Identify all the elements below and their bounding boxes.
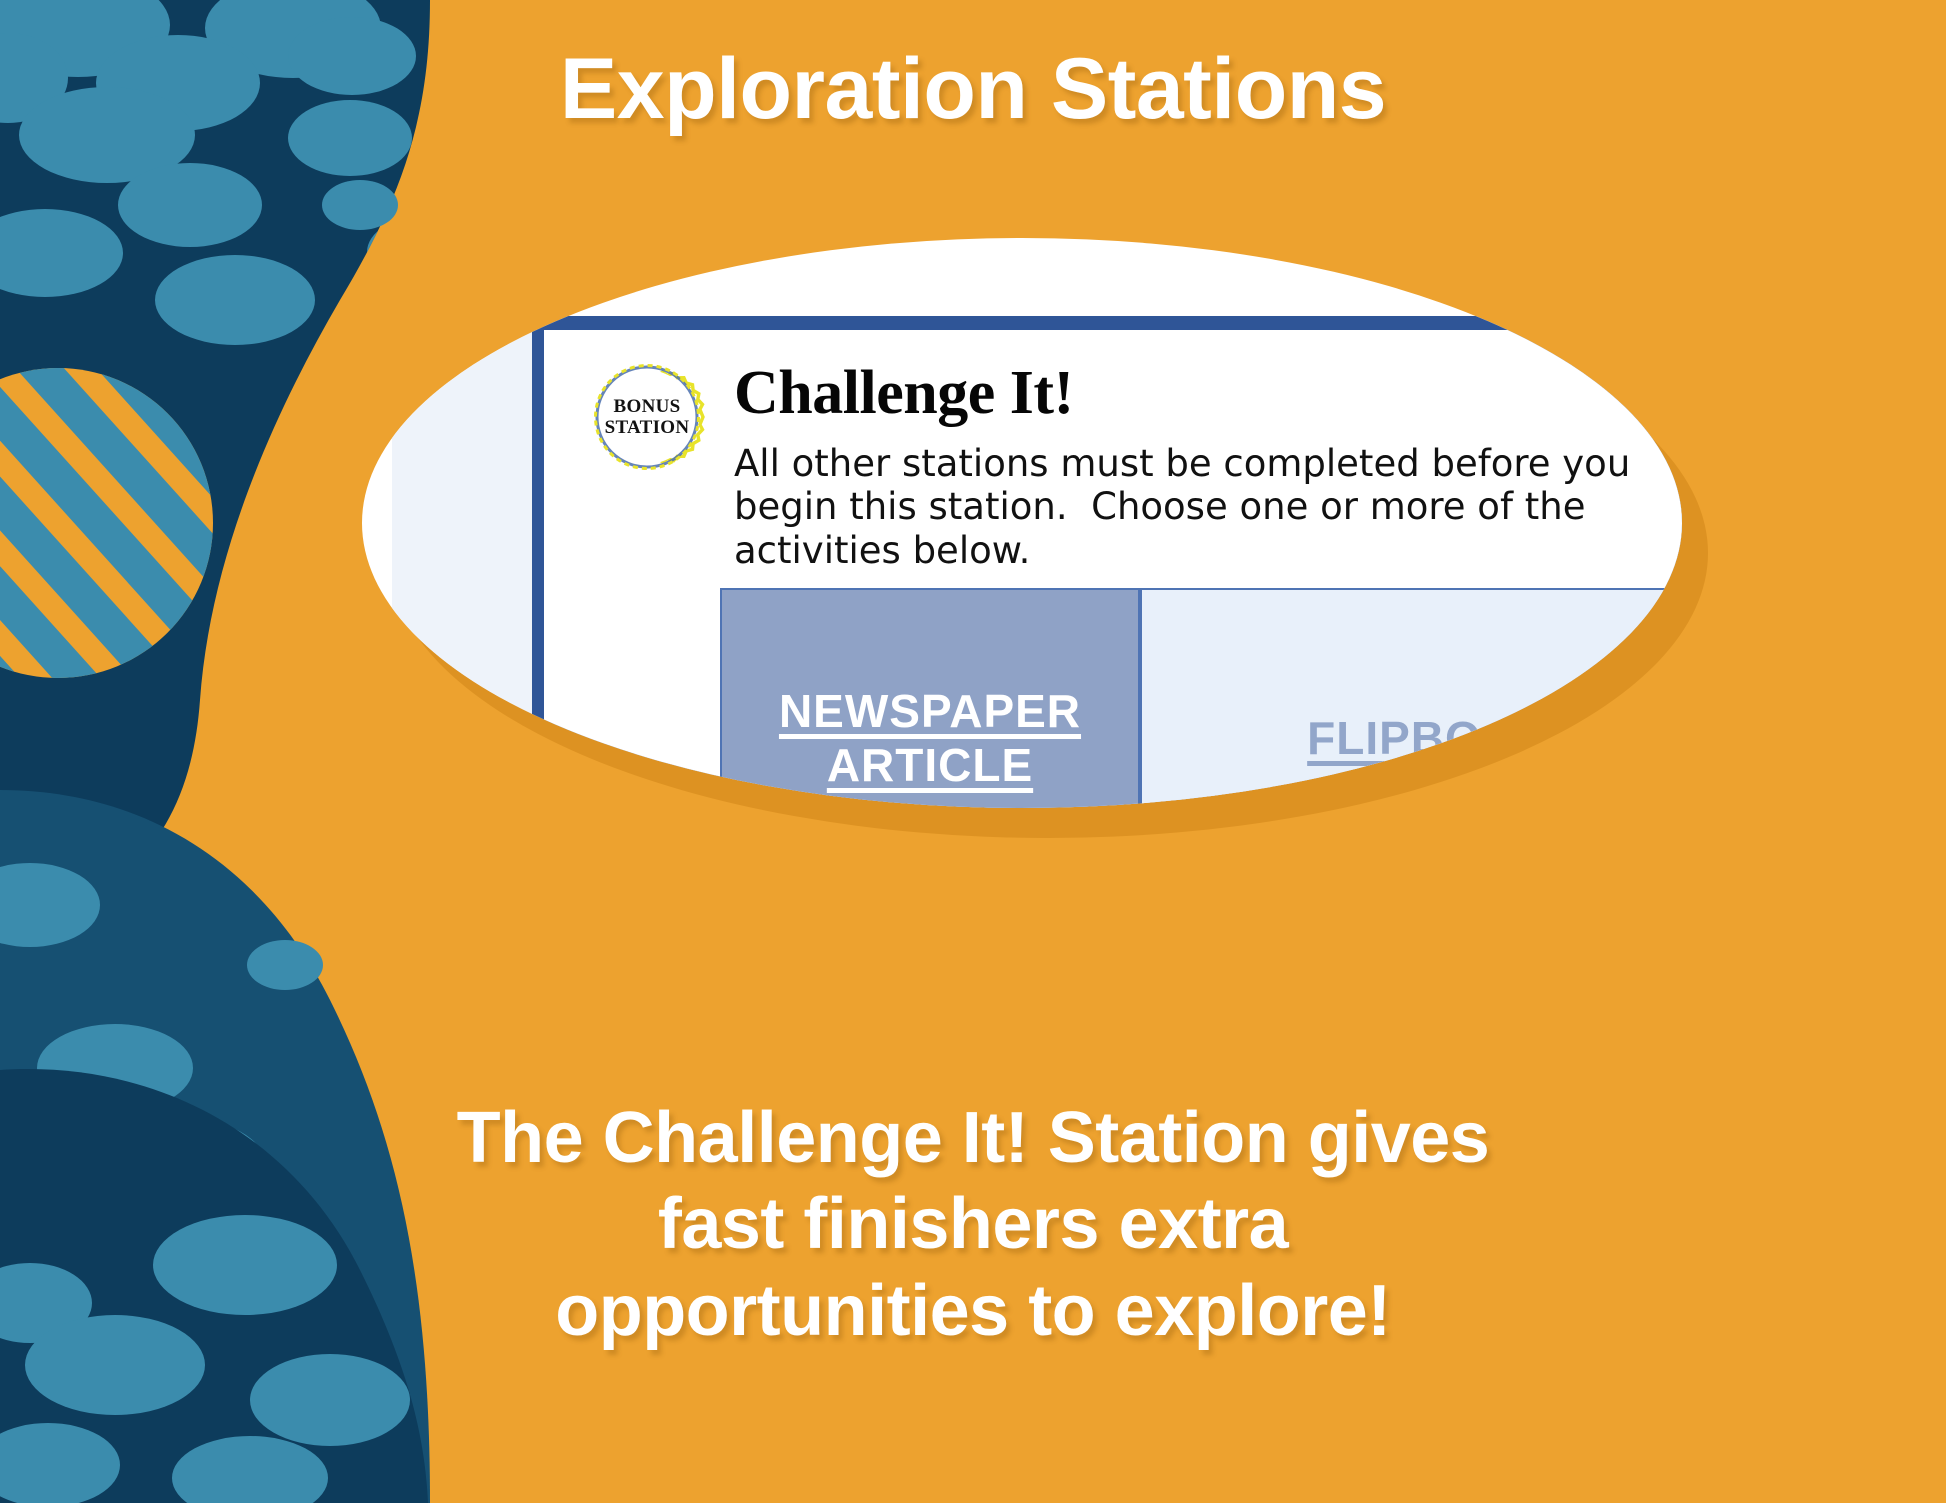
document-blue-border: BONUS STATION Challenge It! All other st… [532,316,1682,808]
document-heading: Challenge It! [734,358,1074,429]
screenshot-oval-frame: BONUS STATION Challenge It! All other st… [362,238,1682,808]
caption-line-1: The Challenge It! Station gives [0,1095,1946,1181]
caption-line-2: fast finishers extra [0,1181,1946,1267]
seal-line-1: BONUS [614,396,681,417]
document-content-area: BONUS STATION Challenge It! All other st… [544,330,1682,808]
newspaper-line-1: NEWSPAPER [779,685,1081,737]
page-title: Exploration Stations [0,40,1946,139]
flipbook-label: FLIPBOOK [1307,711,1553,765]
caption-text: The Challenge It! Station gives fast fin… [0,1095,1946,1354]
teal-ellipse-floating-top [322,180,398,230]
newspaper-line-2: ARTICLE [827,739,1033,791]
body-line-1: All other stations must be completed bef… [734,442,1682,485]
bonus-station-seal: BONUS STATION [586,354,708,480]
oval-white-mask: BONUS STATION Challenge It! All other st… [362,238,1682,808]
seal-line-2: STATION [605,417,690,438]
body-line-3: activities below. [734,529,1682,572]
newspaper-article-label: NEWSPAPER ARTICLE [779,684,1081,793]
activity-table: NEWSPAPER ARTICLE FLIPBOOK [720,588,1682,808]
caption-line-3: opportunities to explore! [0,1268,1946,1354]
striped-circle [0,293,298,803]
document-body-text: All other stations must be completed bef… [734,442,1682,572]
activity-link-flipbook[interactable]: FLIPBOOK [1140,588,1682,808]
seal-label: BONUS STATION [586,354,708,480]
activity-link-newspaper-article[interactable]: NEWSPAPER ARTICLE [720,588,1140,808]
teal-ellipse-floating-bottom [247,940,323,990]
document-page: BONUS STATION Challenge It! All other st… [392,316,1682,808]
body-line-2: begin this station. Choose one or more o… [734,485,1682,528]
